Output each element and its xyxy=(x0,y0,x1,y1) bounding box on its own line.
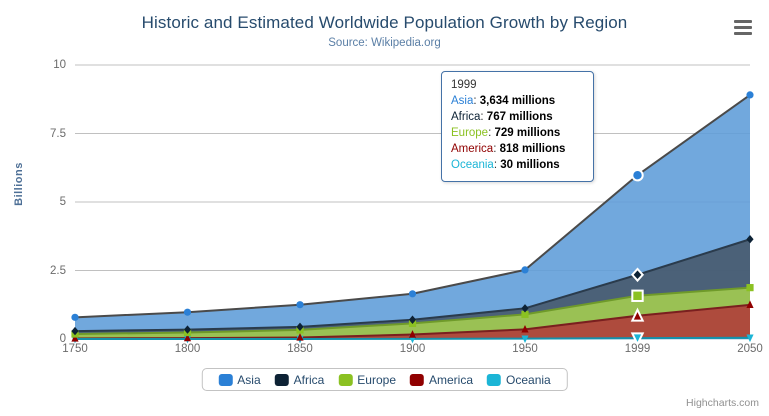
legend-label: America xyxy=(429,373,473,387)
legend-label: Africa xyxy=(294,373,325,387)
x-tick-label: 1999 xyxy=(625,343,651,355)
chart-plot xyxy=(75,65,750,339)
y-tick-label: 10 xyxy=(20,59,66,71)
legend-item-africa[interactable]: Africa xyxy=(275,373,325,387)
y-tick-label: 2.5 xyxy=(20,265,66,277)
tooltip-value: 767 millions xyxy=(487,111,553,123)
x-tick-label: 1900 xyxy=(400,343,426,355)
legend-swatch-america xyxy=(410,374,424,386)
tooltip-series-name: Africa xyxy=(451,111,480,123)
marker-asia[interactable] xyxy=(409,290,416,297)
tooltip-series-name: Asia xyxy=(451,95,473,107)
y-tick-label: 5 xyxy=(20,196,66,208)
tooltip-value: 3,634 millions xyxy=(480,95,555,107)
marker-asia[interactable] xyxy=(71,314,78,321)
menu-bar-1 xyxy=(734,20,752,23)
chart-legend: AsiaAfricaEuropeAmericaOceania xyxy=(201,368,567,391)
marker-europe[interactable] xyxy=(746,284,753,291)
highcharts-container: Historic and Estimated Worldwide Populat… xyxy=(0,0,769,416)
legend-item-europe[interactable]: Europe xyxy=(338,373,396,387)
highcharts-credits[interactable]: Highcharts.com xyxy=(686,397,759,409)
x-tick-label: 1800 xyxy=(175,343,201,355)
menu-bar-2 xyxy=(734,26,752,29)
legend-swatch-europe xyxy=(338,374,352,386)
y-tick-label: 7.5 xyxy=(20,128,66,140)
tooltip-header: 1999 xyxy=(451,79,584,91)
y-tick-label: 0 xyxy=(20,333,66,345)
legend-label: Europe xyxy=(357,373,396,387)
tooltip-row-america: America: 818 millions xyxy=(451,141,584,157)
marker-asia[interactable] xyxy=(521,266,528,273)
legend-swatch-asia xyxy=(218,374,232,386)
tooltip-value: 30 millions xyxy=(500,159,559,171)
menu-bar-3 xyxy=(734,32,752,35)
marker-europe[interactable] xyxy=(632,291,642,301)
marker-asia[interactable] xyxy=(746,91,753,98)
tooltip-row-europe: Europe: 729 millions xyxy=(451,125,584,141)
tooltip-row-africa: Africa: 767 millions xyxy=(451,109,584,125)
y-axis-title: Billions xyxy=(13,149,25,219)
tooltip-rows: Asia: 3,634 millionsAfrica: 767 millions… xyxy=(451,93,584,173)
tooltip-row-asia: Asia: 3,634 millions xyxy=(451,93,584,109)
legend-item-asia[interactable]: Asia xyxy=(218,373,260,387)
x-axis: 1750180018501900195019992050 xyxy=(75,343,750,361)
tooltip-row-oceania: Oceania: 30 millions xyxy=(451,157,584,173)
legend-item-oceania[interactable]: Oceania xyxy=(487,373,551,387)
legend-swatch-oceania xyxy=(487,374,501,386)
x-tick-label: 2050 xyxy=(737,343,763,355)
x-tick-label: 1750 xyxy=(62,343,88,355)
tooltip-value: 818 millions xyxy=(500,143,566,155)
legend-item-america[interactable]: America xyxy=(410,373,473,387)
chart-title: Historic and Estimated Worldwide Populat… xyxy=(0,13,769,33)
x-tick-label: 1850 xyxy=(287,343,313,355)
tooltip-series-name: Oceania xyxy=(451,159,494,171)
marker-asia[interactable] xyxy=(632,170,642,180)
tooltip-value: 729 millions xyxy=(494,127,560,139)
chart-tooltip: 1999 Asia: 3,634 millionsAfrica: 767 mil… xyxy=(441,71,594,182)
plot-area xyxy=(75,65,750,339)
marker-asia[interactable] xyxy=(296,301,303,308)
chart-subtitle: Source: Wikipedia.org xyxy=(0,37,769,49)
legend-label: Asia xyxy=(237,373,260,387)
marker-asia[interactable] xyxy=(184,309,191,316)
x-tick-label: 1950 xyxy=(512,343,538,355)
legend-swatch-africa xyxy=(275,374,289,386)
tooltip-series-name: Europe xyxy=(451,127,488,139)
tooltip-series-name: America xyxy=(451,143,493,155)
legend-label: Oceania xyxy=(506,373,551,387)
hamburger-menu-icon[interactable] xyxy=(731,14,755,36)
